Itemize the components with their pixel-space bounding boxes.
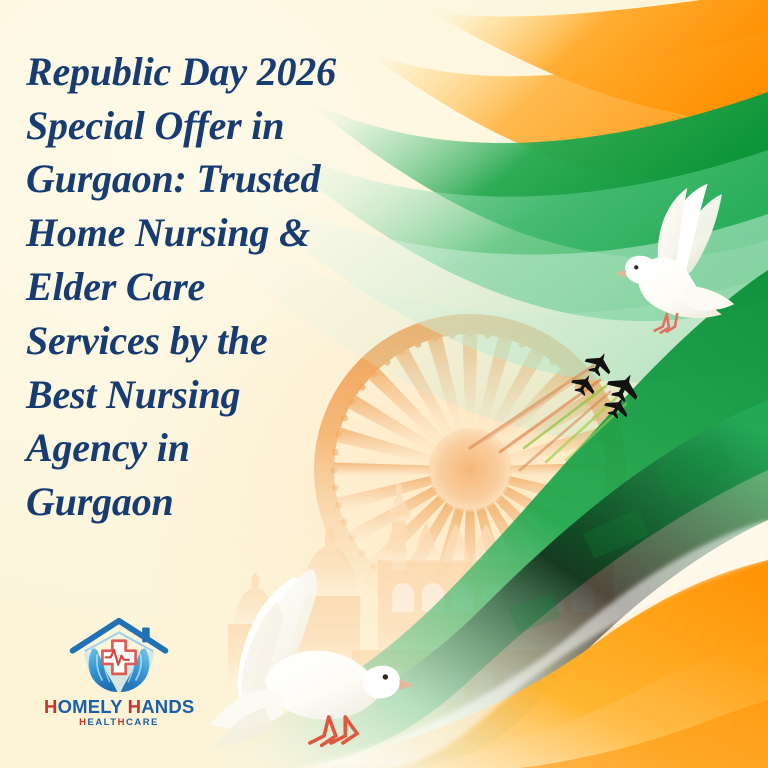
headline-line-3: Gurgaon: Trusted (26, 152, 446, 206)
brand-hands-rest: ANDS (141, 696, 194, 717)
brand-name: HOMELY HANDS (44, 697, 194, 716)
headline-line-2: Special Offer in (26, 99, 446, 153)
headline-line-4: Home Nursing & (26, 206, 446, 260)
tagline-part-4: CARE (126, 717, 159, 728)
tagline-part-2: EALT (87, 717, 117, 728)
brand-homely-rest: OMELY (58, 696, 123, 717)
headline-line-8: Agency in (26, 421, 446, 475)
poster-canvas: Republic Day 2026 Special Offer in Gurga… (0, 0, 768, 768)
brand-tagline: HEALTHCARE (44, 718, 194, 728)
headline-line-1: Republic Day 2026 (26, 45, 446, 99)
headline-line-6: Services by the (26, 314, 446, 368)
brand-logo[interactable]: HOMELY HANDS HEALTHCARE (44, 612, 194, 728)
tagline-part-3: H (118, 717, 126, 728)
poster-headline: Republic Day 2026 Special Offer in Gurga… (26, 45, 446, 529)
house-hands-medical-cross-icon (61, 612, 177, 696)
headline-line-7: Best Nursing (26, 368, 446, 422)
brand-hands-initial: H (128, 696, 142, 717)
headline-line-9: Gurgaon (26, 475, 446, 529)
headline-line-5: Elder Care (26, 260, 446, 314)
brand-homely-initial: H (44, 696, 58, 717)
